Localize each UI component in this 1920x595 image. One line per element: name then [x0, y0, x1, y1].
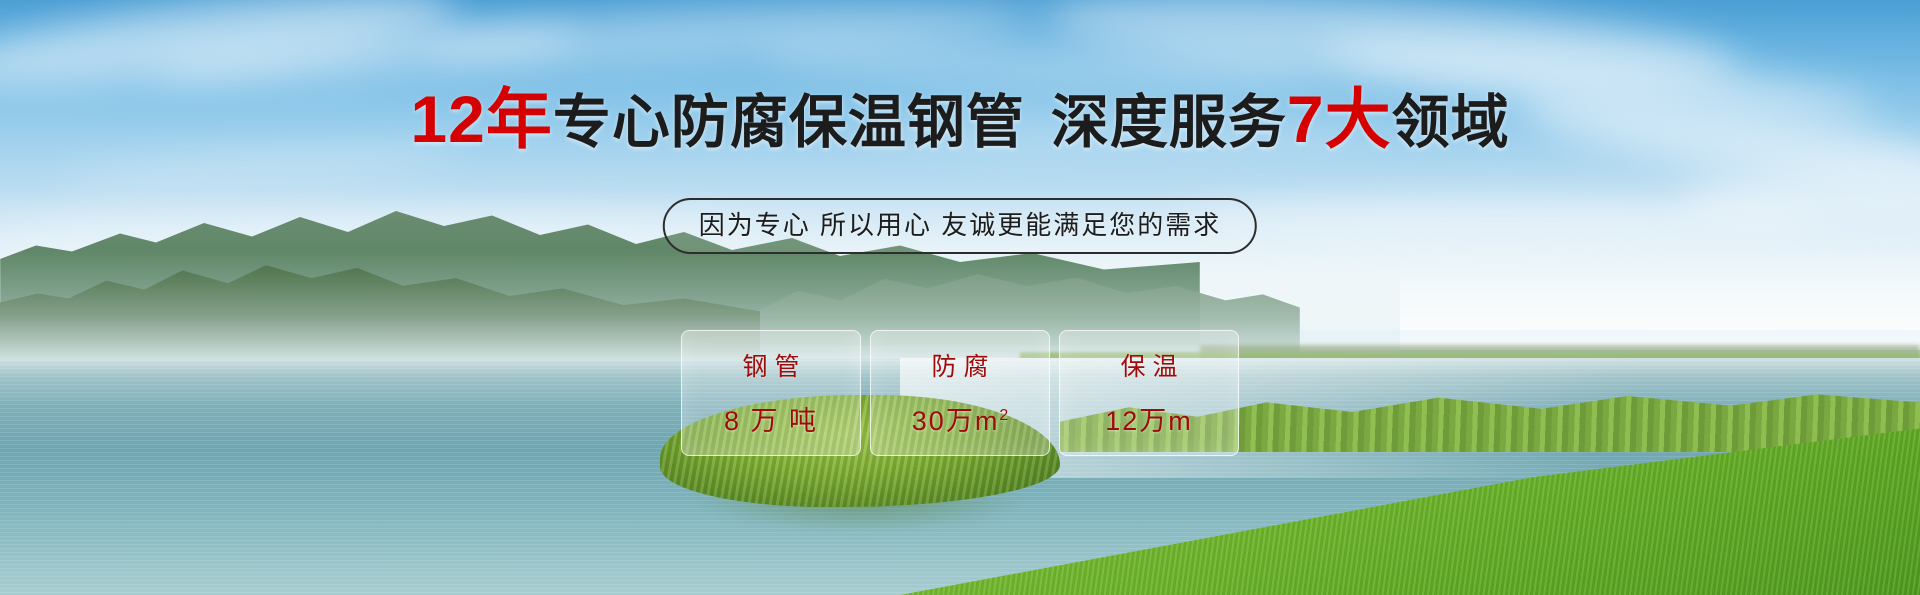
stat-card-label: 钢管	[735, 350, 806, 384]
stat-card-label: 防腐	[924, 350, 995, 384]
stat-card-value: 8 万 吨	[724, 400, 818, 437]
headline-main-text: 专心防腐保温钢管	[553, 90, 1025, 155]
stat-value-text: 8 万 吨	[724, 406, 818, 436]
headline-fields-text: 领域	[1392, 90, 1510, 155]
stat-card-value: 30万m2	[912, 400, 1008, 437]
stat-value-text: 30万m	[912, 406, 1000, 436]
stat-card-insulation[interactable]: 保温 12万m	[1059, 330, 1239, 456]
stat-card-value: 12万m	[1105, 400, 1193, 437]
stat-value-superscript: 2	[999, 407, 1008, 424]
headline-years-badge: 12年	[410, 82, 552, 156]
banner-headline: 12年专心防腐保温钢管深度服务7大领域	[0, 88, 1920, 154]
subtitle-pill: 因为专心 所以用心 友诚更能满足您的需求	[663, 198, 1257, 254]
stat-value-text: 12万m	[1105, 406, 1193, 436]
stat-card-label: 保温	[1113, 350, 1184, 384]
stat-card-steel-pipe[interactable]: 钢管 8 万 吨	[681, 330, 861, 456]
headline-service-text: 深度服务	[1051, 90, 1287, 155]
stat-card-anticorrosion[interactable]: 防腐 30万m2	[870, 330, 1050, 456]
hero-banner: 12年专心防腐保温钢管深度服务7大领域 因为专心 所以用心 友诚更能满足您的需求…	[0, 0, 1920, 595]
stat-card-group: 钢管 8 万 吨 防腐 30万m2 保温 12万m	[681, 330, 1239, 456]
headline-fields-count: 7大	[1287, 82, 1392, 156]
